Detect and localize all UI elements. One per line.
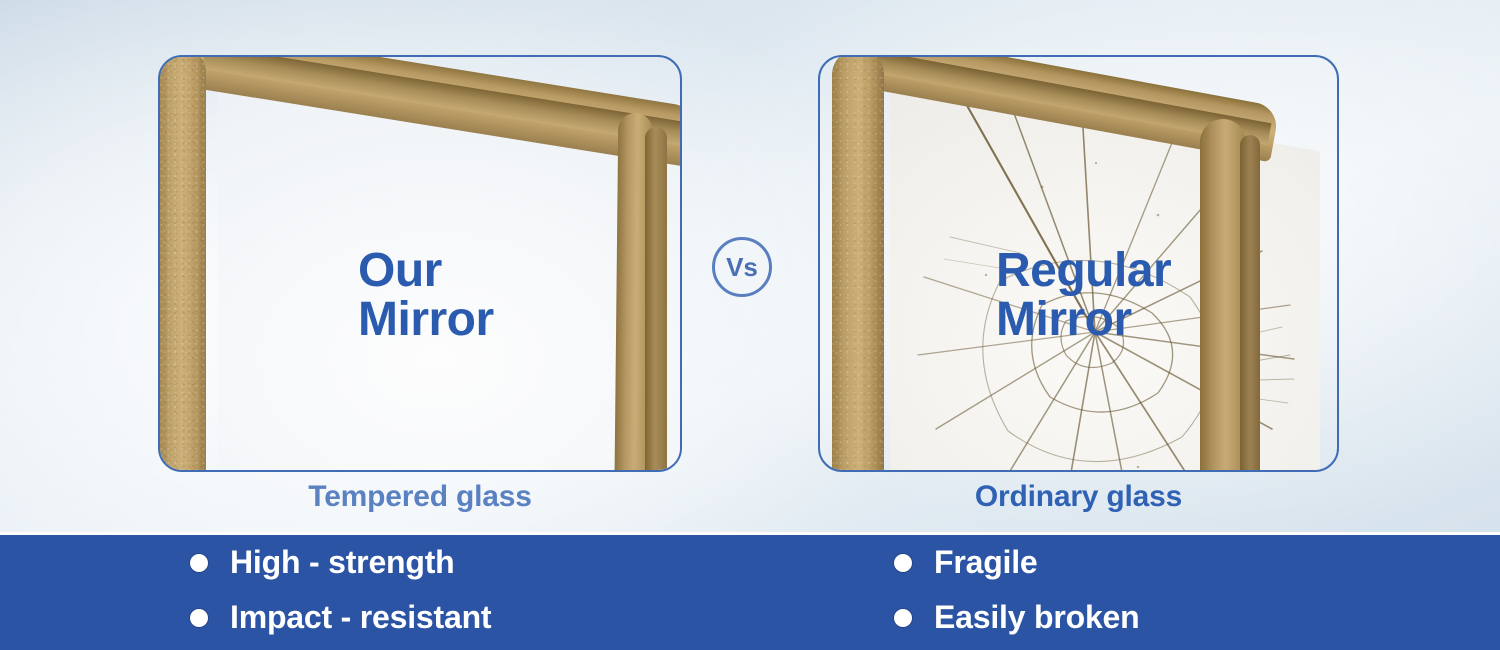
- list-item: Impact - resistant: [190, 590, 491, 645]
- list-item: High - strength: [190, 535, 491, 590]
- tempered-glass-caption: Tempered glass: [158, 480, 682, 514]
- regular-mirror-overlay-label: Regular Mirror: [996, 247, 1171, 345]
- list-item: Easily broken: [894, 590, 1140, 645]
- feature-label: Impact - resistant: [230, 599, 491, 636]
- regular-mirror-frame-right-edge: [1240, 135, 1260, 470]
- our-mirror-frame-left: [160, 57, 206, 470]
- our-mirror-frame-right-edge: [645, 127, 667, 470]
- feature-label: High - strength: [230, 544, 455, 581]
- bullet-dot-icon: [894, 609, 912, 627]
- feature-column-tempered: High - strength Impact - resistant: [190, 535, 491, 650]
- our-mirror-overlay-label: Our Mirror: [358, 247, 494, 345]
- regular-mirror-frame-left: [832, 57, 884, 470]
- feature-label: Easily broken: [934, 599, 1140, 636]
- list-item: Fragile: [894, 535, 1140, 590]
- bullet-dot-icon: [190, 554, 208, 572]
- vs-badge-label: Vs: [726, 252, 758, 283]
- bullet-dot-icon: [894, 554, 912, 572]
- feature-label: Fragile: [934, 544, 1038, 581]
- feature-bar: High - strength Impact - resistant Fragi…: [0, 532, 1500, 650]
- bullet-dot-icon: [190, 609, 208, 627]
- ordinary-glass-caption: Ordinary glass: [818, 480, 1339, 514]
- comparison-stage: Our Mirror Regular Mirror Vs Tempered gl…: [0, 0, 1500, 532]
- vs-badge: Vs: [712, 237, 772, 297]
- feature-column-ordinary: Fragile Easily broken: [894, 535, 1140, 650]
